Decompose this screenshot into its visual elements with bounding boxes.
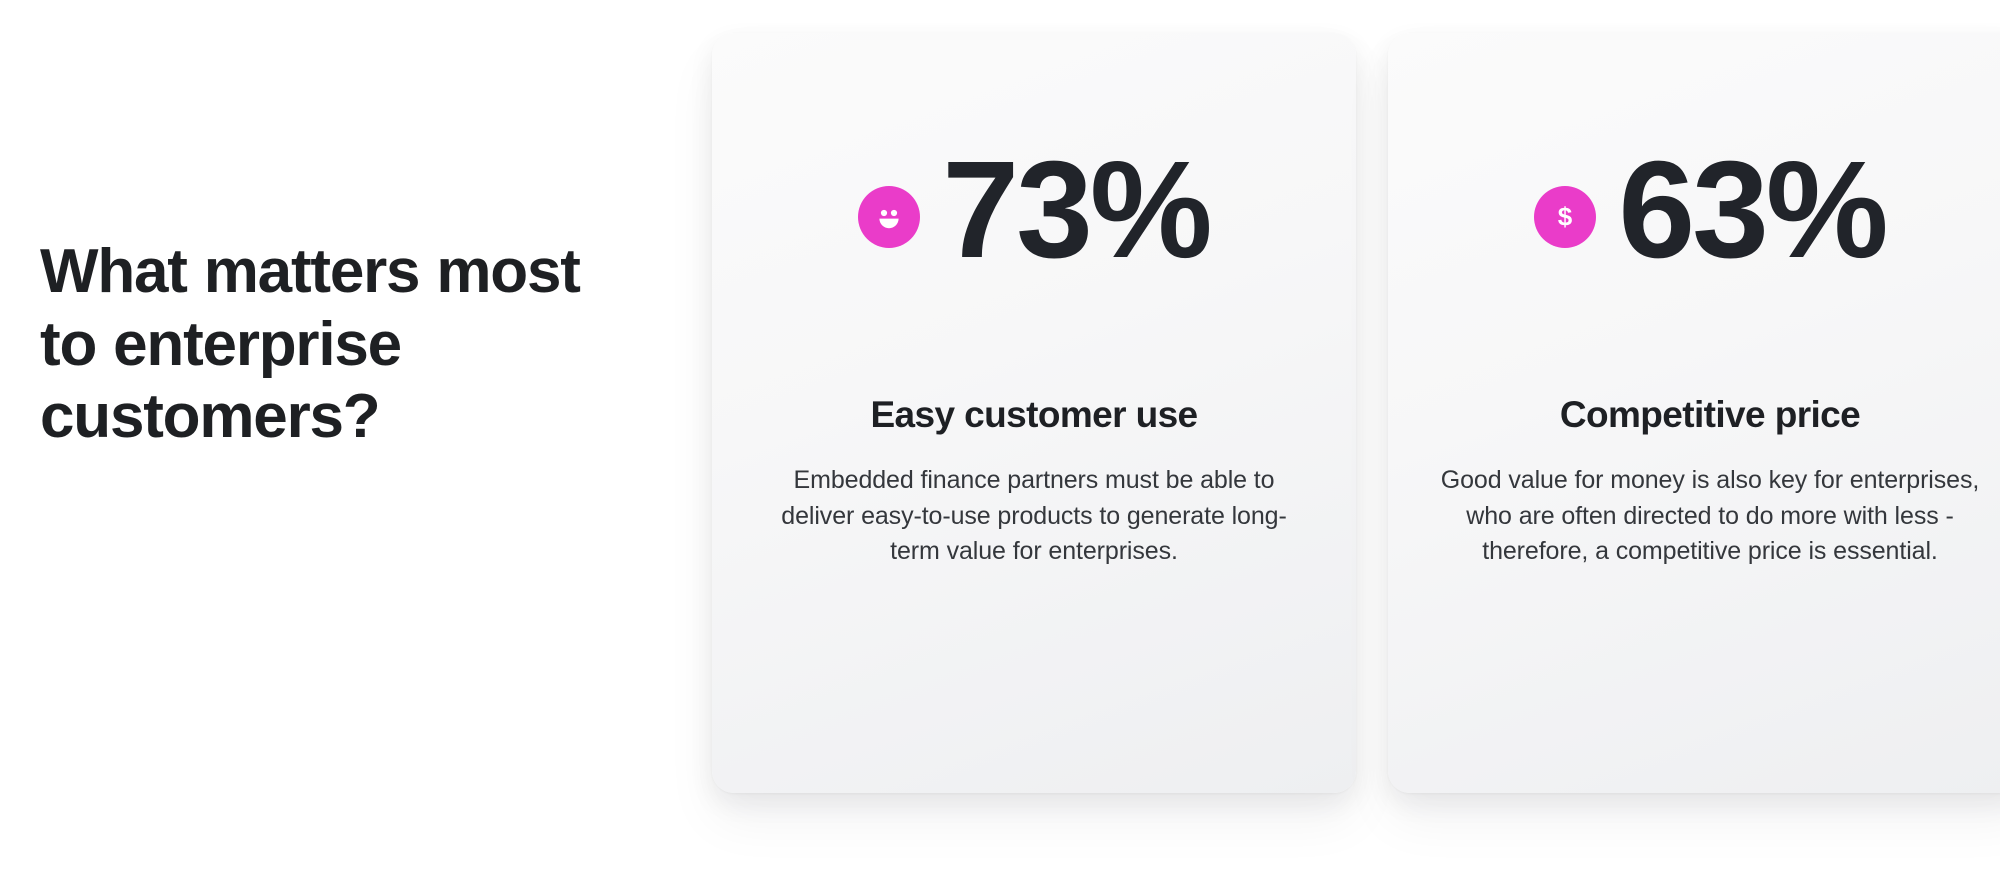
stat-card[interactable]: $ 63% Competitive price Good value for m… bbox=[1388, 33, 2000, 793]
card-title: Competitive price bbox=[1434, 393, 1986, 437]
smiley-face-icon bbox=[858, 186, 920, 248]
infographic-section: What matters most to enterprise customer… bbox=[0, 0, 2000, 871]
card-description: Embedded finance partners must be able t… bbox=[758, 463, 1310, 570]
stat-row: 73% bbox=[712, 141, 1356, 279]
card-body: Easy customer use Embedded finance partn… bbox=[758, 393, 1310, 570]
stat-card[interactable]: 73% Easy customer use Embedded finance p… bbox=[712, 33, 1356, 793]
card-description: Good value for money is also key for ent… bbox=[1434, 463, 1986, 570]
stat-percentage: 63% bbox=[1618, 141, 1885, 279]
section-heading: What matters most to enterprise customer… bbox=[40, 236, 600, 454]
heading-block: What matters most to enterprise customer… bbox=[40, 236, 600, 454]
svg-text:$: $ bbox=[1558, 202, 1573, 232]
card-body: Competitive price Good value for money i… bbox=[1434, 393, 1986, 570]
stat-row: $ 63% bbox=[1388, 141, 2000, 279]
stat-card-list: 73% Easy customer use Embedded finance p… bbox=[712, 33, 2000, 793]
stat-percentage: 73% bbox=[942, 141, 1209, 279]
dollar-sign-icon: $ bbox=[1534, 186, 1596, 248]
card-title: Easy customer use bbox=[758, 393, 1310, 437]
